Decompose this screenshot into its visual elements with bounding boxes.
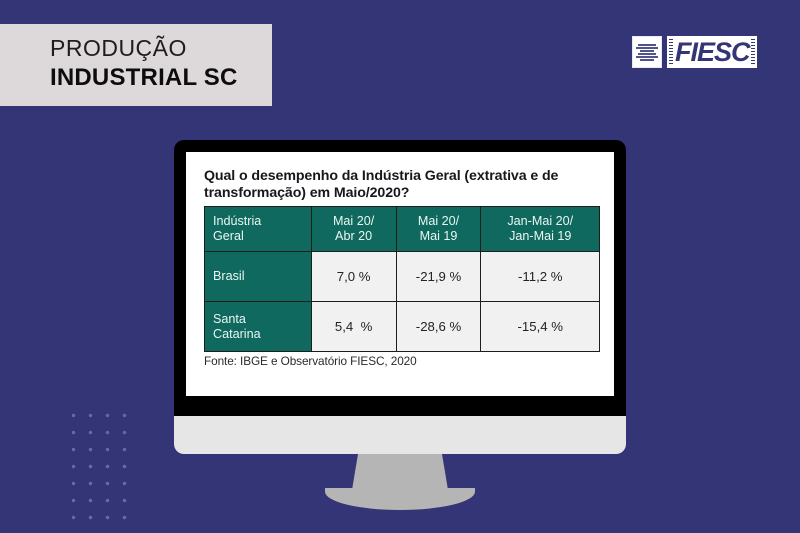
monitor-bezel: Qual o desempenho da Indústria Geral (ex…: [174, 140, 626, 416]
cell-sc-janmai20-janmai19: -15,4 %: [481, 302, 600, 352]
stand-base: [325, 488, 475, 510]
row-label-santa-catarina: Santa Catarina: [205, 302, 312, 352]
header-line: Jan-Mai 19: [489, 229, 591, 244]
emblem-line: [640, 50, 654, 52]
table-header-cell-label: Indústria Geral: [205, 207, 312, 252]
table-row: Brasil 7,0 % -21,9 % -11,2 %: [205, 252, 600, 302]
monitor-illustration: Qual o desempenho da Indústria Geral (ex…: [174, 140, 626, 454]
emblem-line: [638, 53, 656, 55]
emblem-line: [640, 59, 654, 61]
header-line: Abr 20: [320, 229, 388, 244]
emblem-line: [636, 56, 658, 58]
emblem-line: [636, 47, 658, 49]
cell-sc-mai20-mai19: -28,6 %: [396, 302, 481, 352]
fiesc-emblem-icon: [632, 36, 662, 68]
cell-brasil-mai20-mai19: -21,9 %: [396, 252, 481, 302]
fiesc-wordmark: FIESC: [667, 36, 757, 68]
header-line: Jan-Mai 20/: [489, 214, 591, 229]
header-banner: PRODUÇÃO INDUSTRIAL SC: [0, 24, 272, 106]
banner-title-line1: PRODUÇÃO: [50, 33, 272, 63]
cell-brasil-mai20-abr20: 7,0 %: [311, 252, 396, 302]
cell-brasil-janmai20-janmai19: -11,2 %: [481, 252, 600, 302]
source-note: Fonte: IBGE e Observatório FIESC, 2020: [204, 354, 600, 368]
monitor-stand: [320, 454, 480, 516]
cell-sc-mai20-abr20: 5,4 %: [311, 302, 396, 352]
banner-title-line2: INDUSTRIAL SC: [50, 63, 272, 93]
header-line: Indústria: [213, 214, 303, 229]
slide-canvas: PRODUÇÃO INDUSTRIAL SC FIESC Qual o dese…: [0, 0, 800, 533]
table-header-cell-janmai20-janmai19: Jan-Mai 20/ Jan-Mai 19: [481, 207, 600, 252]
table-row: Santa Catarina 5,4 % -28,6 % -15,4 %: [205, 302, 600, 352]
row-label-brasil: Brasil: [205, 252, 312, 302]
row-label-line: Brasil: [213, 269, 303, 284]
decorative-dot-grid: [62, 401, 130, 533]
emblem-line: [638, 44, 656, 46]
table-header-cell-mai20-abr20: Mai 20/ Abr 20: [311, 207, 396, 252]
row-label-line: Catarina: [213, 327, 303, 342]
slide-title: Qual o desempenho da Indústria Geral (ex…: [204, 168, 600, 202]
header-line: Mai 20/: [320, 214, 388, 229]
row-label-line: Santa: [213, 312, 303, 327]
monitor-screen: Qual o desempenho da Indústria Geral (ex…: [186, 152, 614, 396]
header-line: Mai 19: [405, 229, 473, 244]
table-header-row: Indústria Geral Mai 20/ Abr 20 Mai 20/ M…: [205, 207, 600, 252]
industry-performance-table: Indústria Geral Mai 20/ Abr 20 Mai 20/ M…: [204, 206, 600, 352]
fiesc-wordmark-text: FIESC: [675, 39, 750, 66]
header-line: Mai 20/: [405, 214, 473, 229]
table-header-cell-mai20-mai19: Mai 20/ Mai 19: [396, 207, 481, 252]
monitor-chin: [174, 416, 626, 454]
fiesc-logo: FIESC: [632, 36, 757, 68]
header-line: Geral: [213, 229, 303, 244]
